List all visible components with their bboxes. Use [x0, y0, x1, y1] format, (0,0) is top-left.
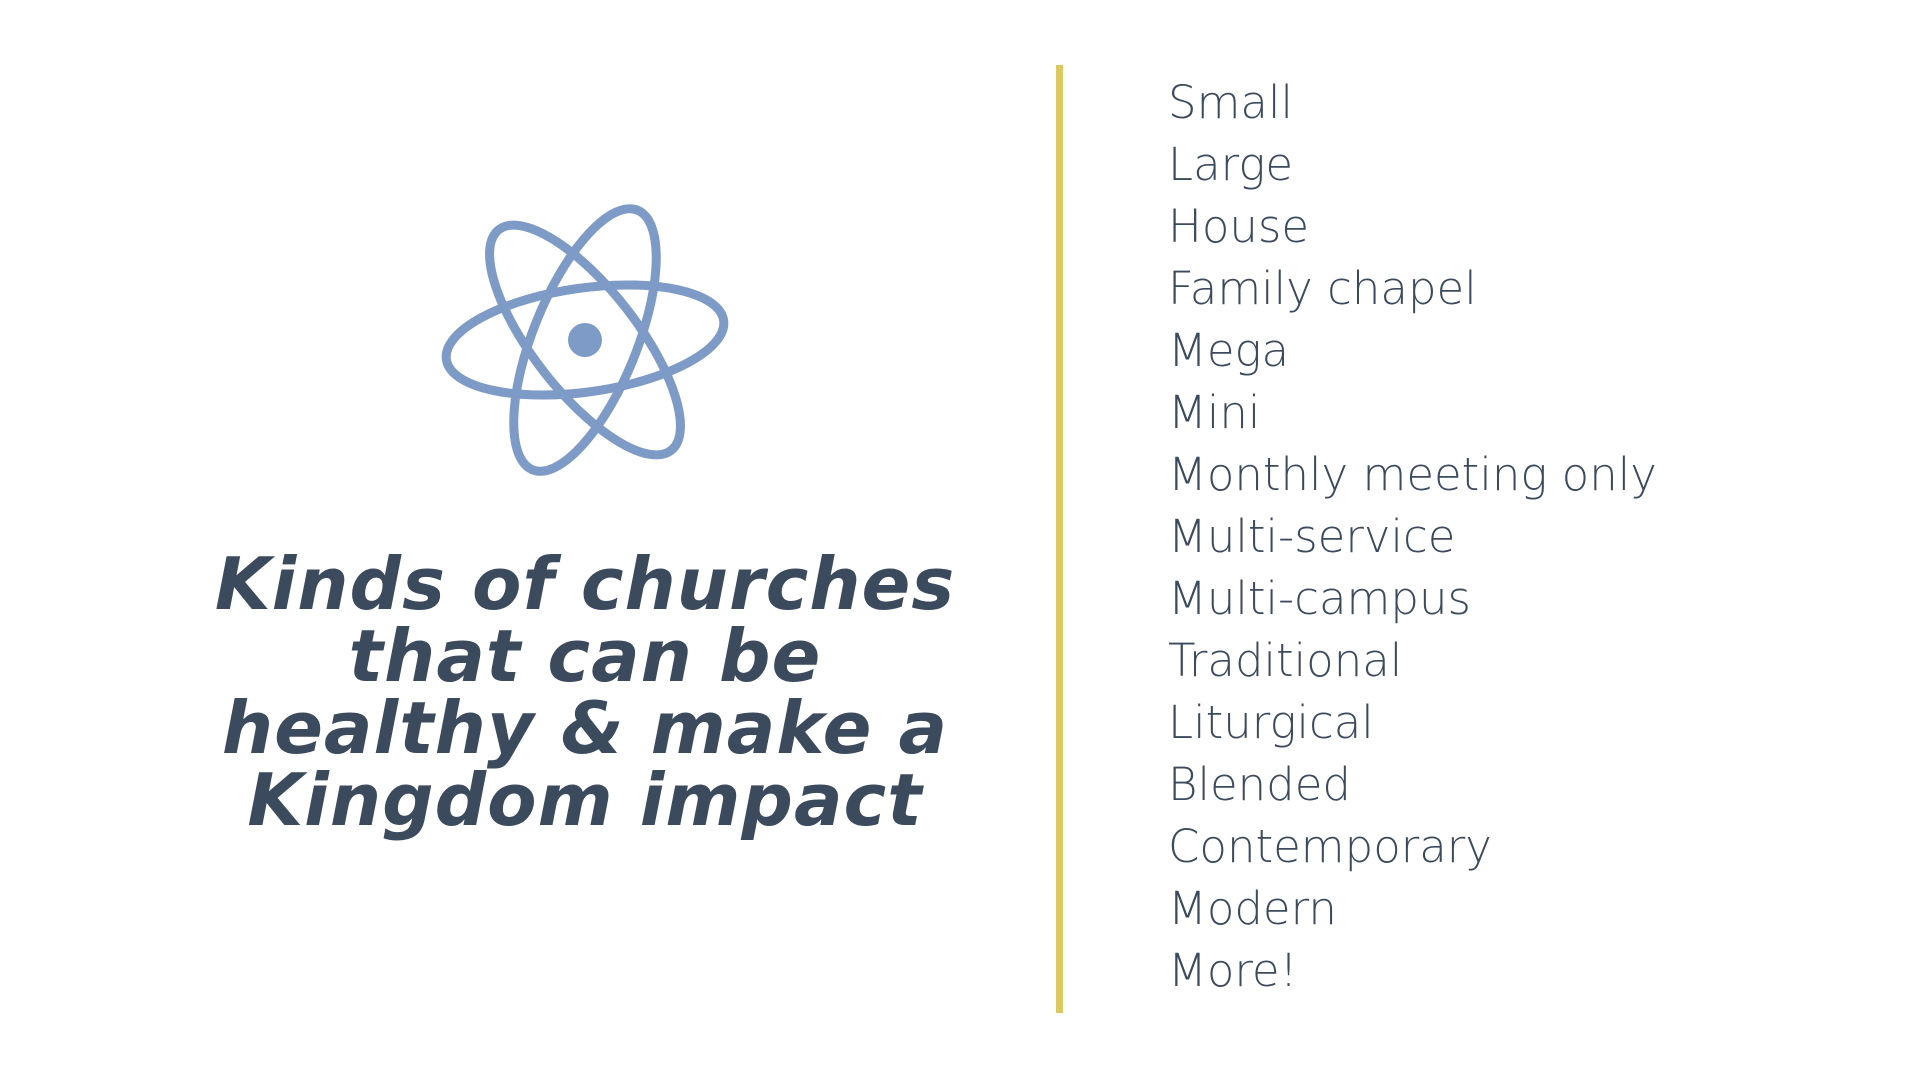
list-item: Contemporary [1168, 816, 1868, 878]
list-item: More! [1168, 940, 1868, 1002]
list-item: Multi-campus [1168, 568, 1868, 630]
list-item: Liturgical [1168, 692, 1868, 754]
atom-icon [435, 190, 735, 490]
list-item: Traditional [1168, 630, 1868, 692]
vertical-divider [1056, 65, 1063, 1013]
list-item: Multi-service [1168, 506, 1868, 568]
list-item: House [1168, 196, 1868, 258]
list-item: Monthly meeting only [1168, 444, 1868, 506]
list-item: Family chapel [1168, 258, 1868, 320]
list-item: Blended [1168, 754, 1868, 816]
list-item: Mega [1168, 320, 1868, 382]
list-item: Small [1168, 72, 1868, 134]
left-panel: Kinds of churches that can be healthy & … [0, 0, 1058, 1080]
church-kinds-list: Small Large House Family chapel Mega Min… [1168, 72, 1868, 1002]
list-item: Mini [1168, 382, 1868, 444]
list-item: Large [1168, 134, 1868, 196]
list-item: Modern [1168, 878, 1868, 940]
page-title: Kinds of churches that can be healthy & … [150, 548, 1020, 836]
presentation-slide: Kinds of churches that can be healthy & … [0, 0, 1920, 1080]
